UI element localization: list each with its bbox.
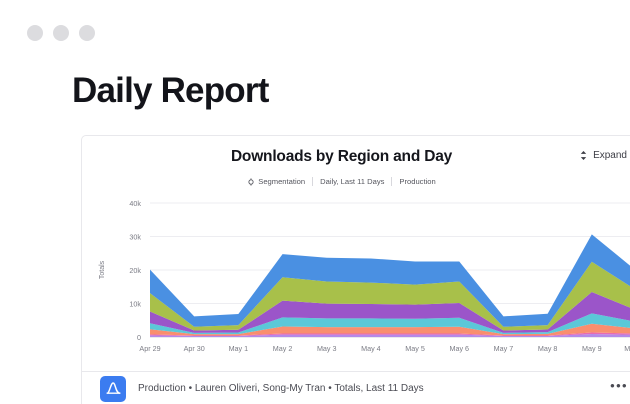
window-dot-minimize[interactable] bbox=[53, 25, 69, 41]
x-axis-tick-label: May 9 bbox=[582, 344, 602, 353]
chart-title: Downloads by Region and Day bbox=[82, 148, 630, 166]
chart-footer-text: Production • Lauren Oliveri, Song-My Tra… bbox=[138, 383, 424, 394]
environment-label[interactable]: Production bbox=[399, 177, 435, 186]
y-axis-tick-label: 20k bbox=[129, 266, 141, 275]
x-axis-tick-label: May 4 bbox=[361, 344, 381, 353]
expand-button[interactable]: Expand bbox=[579, 150, 627, 161]
chart-plot-area[interactable]: 010k20k30k40kTotalsApr 29Apr 30May 1May … bbox=[82, 191, 630, 371]
page-title: Daily Report bbox=[72, 70, 269, 112]
x-axis-tick-label: May 3 bbox=[317, 344, 337, 353]
chart-card: Downloads by Region and Day Segmentation… bbox=[81, 135, 630, 404]
y-axis-tick-label: 10k bbox=[129, 300, 141, 309]
chart-card-header: Downloads by Region and Day Segmentation… bbox=[82, 136, 630, 191]
x-axis-tick-label: May 7 bbox=[494, 344, 514, 353]
chart-card-footer: Production • Lauren Oliveri, Song-My Tra… bbox=[82, 372, 630, 404]
y-axis-tick-label: 30k bbox=[129, 233, 141, 242]
window-titlebar bbox=[0, 0, 630, 56]
app-window: Daily Report Downloads by Region and Day… bbox=[0, 0, 630, 404]
x-axis-tick-label: May 2 bbox=[273, 344, 293, 353]
y-axis-tick-label: 0 bbox=[137, 333, 141, 342]
chevron-up-down-icon bbox=[579, 150, 588, 161]
window-dot-maximize[interactable] bbox=[79, 25, 95, 41]
meta-divider-1 bbox=[312, 177, 313, 186]
x-axis-tick-label: Apr 30 bbox=[184, 344, 205, 353]
x-axis-tick-label: May 1 bbox=[229, 344, 249, 353]
x-axis-tick-label: May 8 bbox=[538, 344, 558, 353]
x-axis-tick-label: Apr 29 bbox=[139, 344, 160, 353]
window-dot-close[interactable] bbox=[27, 25, 43, 41]
more-horizontal-icon[interactable]: ••• bbox=[610, 382, 628, 395]
interval-label[interactable]: Daily, Last 11 Days bbox=[320, 177, 384, 186]
x-axis-tick-label: May 6 bbox=[449, 344, 469, 353]
meta-divider-2 bbox=[391, 177, 392, 186]
stacked-area-chart[interactable]: 010k20k30k40kTotalsApr 29Apr 30May 1May … bbox=[82, 191, 630, 371]
y-axis-title: Totals bbox=[99, 260, 106, 279]
segmentation-icon bbox=[247, 178, 255, 186]
amplitude-logo-icon bbox=[105, 380, 122, 397]
segmentation-label: Segmentation bbox=[258, 177, 305, 186]
x-axis-tick-label: May 10 bbox=[624, 344, 630, 353]
chart-subtitle-meta: Segmentation Daily, Last 11 Days Product… bbox=[82, 177, 630, 186]
amplitude-app-icon bbox=[100, 376, 126, 402]
x-axis-tick-label: May 5 bbox=[405, 344, 425, 353]
y-axis-tick-label: 40k bbox=[129, 199, 141, 208]
segmentation-chip[interactable]: Segmentation bbox=[247, 177, 305, 186]
expand-label: Expand bbox=[593, 150, 627, 161]
